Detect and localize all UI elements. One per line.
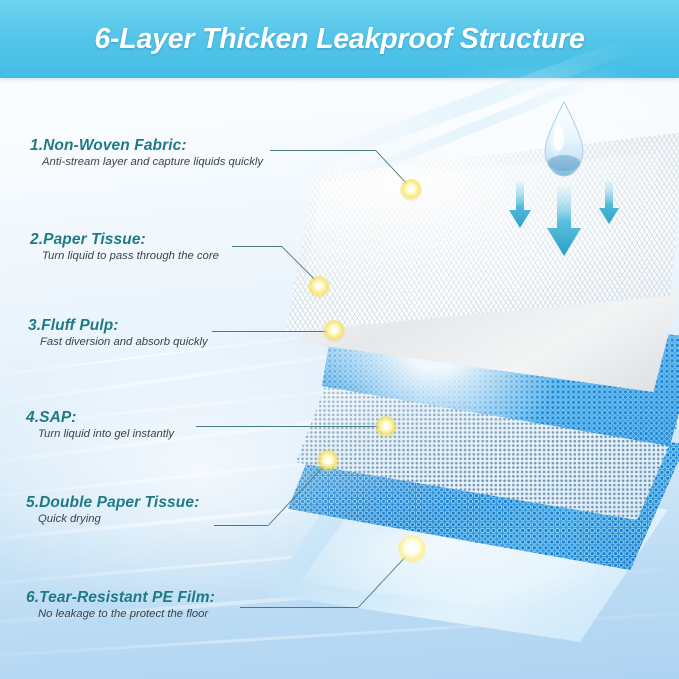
layer-label-5-description: Quick drying: [38, 513, 199, 525]
glow-marker-5: [317, 450, 339, 472]
layer-label-5-heading: 5.Double Paper Tissue:: [26, 494, 199, 512]
layer-label-1-description: Anti-stream layer and capture liquids qu…: [42, 156, 263, 168]
layer-label-3-heading: 3.Fluff Pulp:: [28, 317, 208, 335]
layer-label-5: 5.Double Paper Tissue: Quick drying: [26, 494, 199, 525]
glow-marker-4: [375, 416, 397, 438]
layer-label-1-heading: 1.Non-Woven Fabric:: [30, 137, 263, 155]
glow-marker-1: [400, 179, 422, 201]
layer-label-2-description: Turn liquid to pass through the core: [42, 250, 219, 262]
layer-label-4-description: Turn liquid into gel instantly: [38, 428, 174, 440]
page-title: 6-Layer Thicken Leakproof Structure: [94, 23, 584, 56]
layer-label-4-heading: 4.SAP:: [26, 409, 174, 427]
header-banner: 6-Layer Thicken Leakproof Structure: [0, 0, 679, 78]
product-infographic: 6-Layer Thicken Leakproof Structure: [0, 0, 679, 679]
glow-marker-2: [308, 276, 330, 298]
layer-label-6-heading: 6.Tear-Resistant PE Film:: [26, 589, 215, 607]
layer-label-2: 2.Paper Tissue: Turn liquid to pass thro…: [30, 231, 219, 262]
layer-label-4: 4.SAP: Turn liquid into gel instantly: [26, 409, 174, 440]
layer-label-6-description: No leakage to the protect the floor: [38, 608, 215, 620]
layer-label-1: 1.Non-Woven Fabric: Anti-stream layer an…: [30, 137, 263, 168]
layer-label-2-heading: 2.Paper Tissue:: [30, 231, 219, 249]
layer-label-3: 3.Fluff Pulp: Fast diversion and absorb …: [28, 317, 208, 348]
layer-label-6: 6.Tear-Resistant PE Film: No leakage to …: [26, 589, 215, 620]
glow-marker-6: [398, 535, 426, 563]
layer-label-3-description: Fast diversion and absorb quickly: [40, 336, 208, 348]
glow-marker-3: [323, 320, 345, 342]
